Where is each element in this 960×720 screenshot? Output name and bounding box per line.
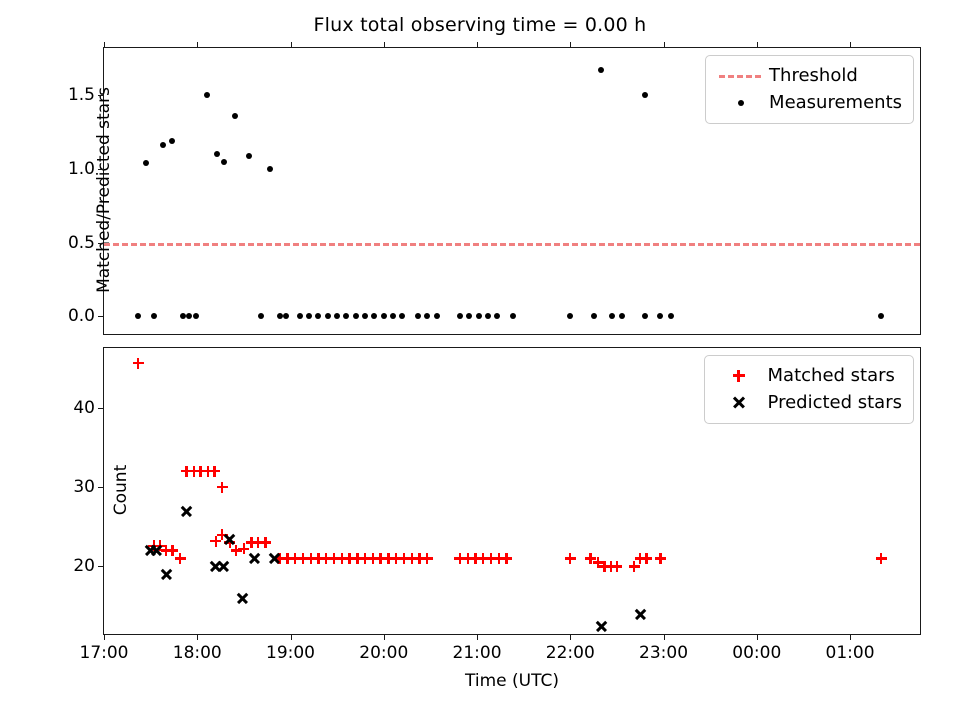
data-point: [325, 313, 331, 319]
ytick-label: 0.0: [68, 306, 95, 326]
data-point: [466, 313, 472, 319]
data-point: [353, 313, 359, 319]
legend-item-matched-stars[interactable]: Matched stars: [716, 362, 902, 389]
data-point: [315, 313, 321, 319]
legend-item-predicted-stars[interactable]: Predicted stars: [716, 389, 902, 416]
legend-label-measurements: Measurements: [763, 92, 902, 113]
data-point: [381, 313, 387, 319]
data-point: [424, 313, 430, 319]
data-point: [283, 313, 289, 319]
data-point: [169, 138, 175, 144]
data-point: [258, 313, 264, 319]
data-point: [598, 67, 604, 73]
data-point: [642, 92, 648, 98]
xtick-label: 00:00: [732, 643, 781, 663]
data-point: [878, 313, 884, 319]
data-point: [619, 313, 625, 319]
bottom-panel-axes: Count 203040 17:0018:0019:0020:0021:0022…: [103, 347, 921, 635]
data-point: [399, 313, 405, 319]
data-point: [668, 313, 674, 319]
ytick-label: 40: [73, 398, 95, 418]
data-point: [485, 313, 491, 319]
data-point: [277, 313, 283, 319]
xtick-mark: [477, 634, 478, 640]
ytick-label: 30: [73, 477, 95, 497]
xtick-label: 21:00: [453, 643, 502, 663]
data-point: [143, 160, 149, 166]
data-point: [415, 313, 421, 319]
xtick-mark: [384, 634, 385, 640]
xtick-label: 22:00: [546, 643, 595, 663]
xaxis-label: Time (UTC): [104, 671, 920, 691]
top-panel-axes: Matched/Predicted stars 0.00.51.01.5 Thr…: [103, 47, 921, 335]
figure-canvas: Flux total observing time = 0.00 h Match…: [0, 0, 960, 720]
data-point: [642, 313, 648, 319]
bottom-panel-legend[interactable]: Matched stars Predicted stars: [704, 355, 914, 424]
ytick-label: 1.0: [68, 159, 95, 179]
data-point: [160, 142, 166, 148]
xtick-mark: [757, 634, 758, 640]
data-point: [609, 313, 615, 319]
page-title: Flux total observing time = 0.00 h: [0, 14, 960, 36]
data-point: [457, 313, 463, 319]
data-point: [267, 166, 273, 172]
data-point: [232, 113, 238, 119]
legend-label-predicted-stars: Predicted stars: [762, 392, 902, 413]
data-point: [214, 151, 220, 157]
data-point: [390, 313, 396, 319]
xtick-label: 23:00: [639, 643, 688, 663]
dot-marker-icon: [717, 92, 763, 114]
data-point: [180, 313, 186, 319]
cross-marker-icon: [716, 392, 762, 414]
dashed-line-icon: [717, 65, 763, 87]
data-point: [135, 313, 141, 319]
ytick-label: 0.5: [68, 233, 95, 253]
data-point: [494, 313, 500, 319]
ytick-label: 20: [73, 556, 95, 576]
top-panel-legend[interactable]: Threshold Measurements: [705, 55, 914, 124]
data-point: [591, 313, 597, 319]
data-point: [334, 313, 340, 319]
xtick-mark: [291, 634, 292, 640]
data-point: [297, 313, 303, 319]
legend-label-matched-stars: Matched stars: [762, 365, 895, 386]
data-point: [362, 313, 368, 319]
xtick-label: 20:00: [359, 643, 408, 663]
xtick-label: 01:00: [826, 643, 875, 663]
legend-item-threshold[interactable]: Threshold: [717, 62, 902, 89]
data-point: [434, 313, 440, 319]
plus-marker-icon: [716, 365, 762, 387]
threshold-line: [104, 243, 920, 246]
data-point: [476, 313, 482, 319]
data-point: [371, 313, 377, 319]
data-point: [510, 313, 516, 319]
xtick-mark: [664, 634, 665, 640]
data-point: [193, 313, 199, 319]
xtick-mark: [104, 634, 105, 640]
xtick-mark: [197, 634, 198, 640]
data-point: [567, 313, 573, 319]
xtick-label: 19:00: [266, 643, 315, 663]
ytick-label: 1.5: [68, 85, 95, 105]
data-point: [151, 313, 157, 319]
legend-item-measurements[interactable]: Measurements: [717, 89, 902, 116]
legend-label-threshold: Threshold: [763, 65, 858, 86]
data-point: [246, 153, 252, 159]
data-point: [204, 92, 210, 98]
xtick-mark: [570, 634, 571, 640]
data-point: [186, 313, 192, 319]
data-point: [221, 159, 227, 165]
data-point: [657, 313, 663, 319]
xtick-mark: [850, 634, 851, 640]
data-point: [306, 313, 312, 319]
xtick-label: 17:00: [80, 643, 129, 663]
data-point: [343, 313, 349, 319]
xtick-label: 18:00: [173, 643, 222, 663]
